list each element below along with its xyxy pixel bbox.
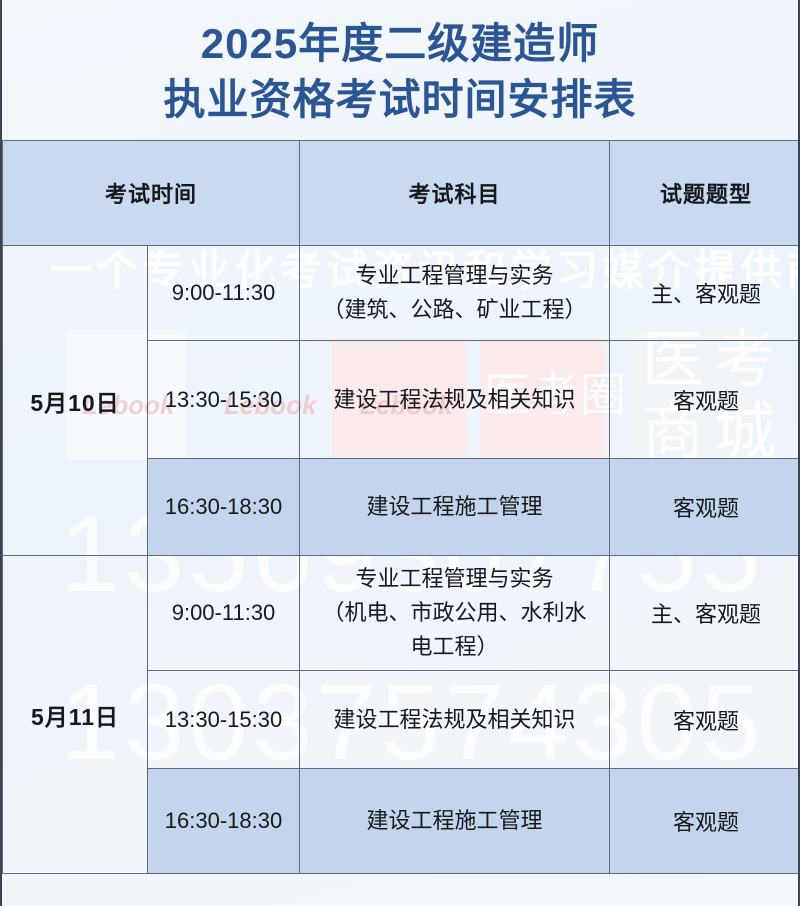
subject-line: 专业工程管理与实务 (300, 259, 609, 293)
cell-time: 13:30-15:30 (148, 341, 300, 459)
table-row: 5月10日 9:00-11:30 专业工程管理与实务 （建筑、公路、矿业工程） … (3, 246, 800, 341)
column-header-time: 考试时间 (3, 141, 300, 246)
cell-time: 16:30-18:30 (148, 769, 300, 874)
cell-time: 9:00-11:30 (148, 246, 300, 341)
cell-subject: 建设工程法规及相关知识 (300, 341, 610, 459)
cell-subject: 专业工程管理与实务 （机电、市政公用、水利水 电工程） (300, 556, 610, 671)
subject-line: 电工程） (300, 630, 609, 664)
cell-time: 9:00-11:30 (148, 556, 300, 671)
cell-date-day2: 5月11日 (3, 556, 148, 874)
cell-type: 客观题 (610, 769, 800, 874)
subject-line: 建设工程法规及相关知识 (300, 703, 609, 737)
table-body: 5月10日 9:00-11:30 专业工程管理与实务 （建筑、公路、矿业工程） … (3, 246, 800, 874)
subject-line: 专业工程管理与实务 (300, 562, 609, 596)
exam-schedule-table: 考试时间 考试科目 试题题型 5月10日 9:00-11:30 专业工程管理与实… (2, 140, 800, 874)
title-line-2: 执业资格考试时间安排表 (2, 72, 798, 128)
column-header-type: 试题题型 (610, 141, 800, 246)
subject-line: （机电、市政公用、水利水 (300, 596, 609, 630)
schedule-table-wrap: 考试时间 考试科目 试题题型 5月10日 9:00-11:30 专业工程管理与实… (2, 140, 798, 874)
column-header-subject: 考试科目 (300, 141, 610, 246)
subject-line: （建筑、公路、矿业工程） (300, 293, 609, 327)
table-head: 考试时间 考试科目 试题题型 (3, 141, 800, 246)
cell-date-day1: 5月10日 (3, 246, 148, 556)
cell-type: 主、客观题 (610, 556, 800, 671)
table-header-row: 考试时间 考试科目 试题题型 (3, 141, 800, 246)
subject-line: 建设工程法规及相关知识 (300, 383, 609, 417)
cell-time: 13:30-15:30 (148, 671, 300, 769)
cell-type: 主、客观题 (610, 246, 800, 341)
subject-line: 建设工程施工管理 (300, 490, 609, 524)
cell-subject: 专业工程管理与实务 （建筑、公路、矿业工程） (300, 246, 610, 341)
cell-type: 客观题 (610, 341, 800, 459)
cell-subject: 建设工程法规及相关知识 (300, 671, 610, 769)
cell-time: 16:30-18:30 (148, 459, 300, 556)
cell-subject: 建设工程施工管理 (300, 459, 610, 556)
cell-subject: 建设工程施工管理 (300, 769, 610, 874)
cell-type: 客观题 (610, 671, 800, 769)
title-line-1: 2025年度二级建造师 (2, 16, 798, 72)
poster-root: 梁园考试书店 一个专业化考试资讯和学习媒介提供商 13569307755 130… (0, 0, 800, 906)
cell-type: 客观题 (610, 459, 800, 556)
subject-line: 建设工程施工管理 (300, 804, 609, 838)
page-title: 2025年度二级建造师 执业资格考试时间安排表 (2, 0, 798, 128)
table-row: 5月11日 9:00-11:30 专业工程管理与实务 （机电、市政公用、水利水 … (3, 556, 800, 671)
